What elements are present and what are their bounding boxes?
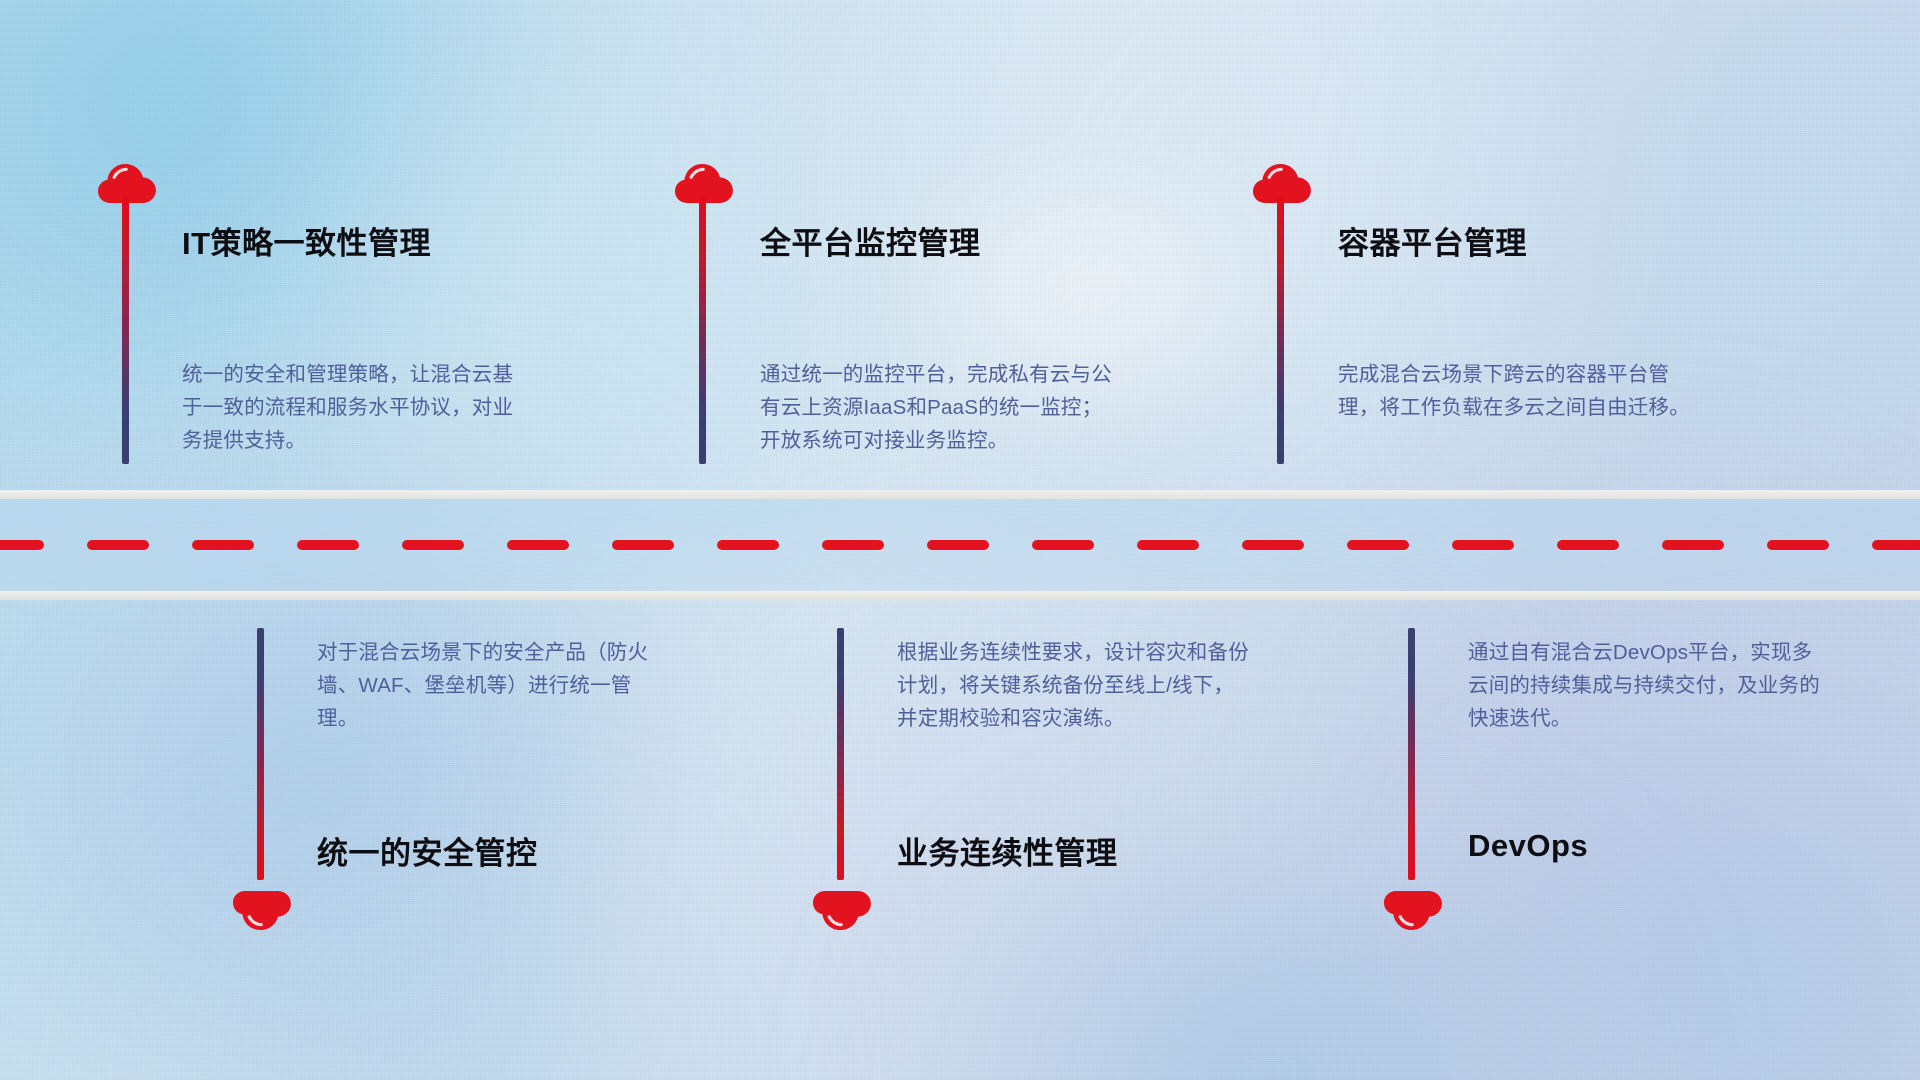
connector-stem [122,196,129,464]
item-description: 对于混合云场景下的安全产品（防火墙、WAF、堡垒机等）进行统一管理。 [317,636,657,736]
item-heading: 业务连续性管理 [897,828,1118,873]
item-heading: DevOps [1468,828,1588,864]
road-dash-segment [192,540,254,550]
cloud-icon [1382,890,1444,934]
road-dash-segment [822,540,884,550]
road-dash-segment [1452,540,1514,550]
road-dash-segment [612,540,674,550]
road-dash-segment [717,540,779,550]
road-dash-segment [1347,540,1409,550]
item-heading: 全平台监控管理 [760,218,981,263]
connector-stem [1408,628,1415,880]
road-dash-segment [402,540,464,550]
road-dash-segment [87,540,149,550]
road-dash-segment [1137,540,1199,550]
item-description: 根据业务连续性要求，设计容灾和备份计划，将关键系统备份至线上/线下，并定期校验和… [897,636,1252,736]
road-dash-segment [1872,540,1920,550]
item-heading: IT策略一致性管理 [182,218,431,263]
road-dash-segment [1557,540,1619,550]
item-description: 通过统一的监控平台，完成私有云与公有云上资源IaaS和PaaS的统一监控；开放系… [760,358,1115,458]
road-dash-segment [507,540,569,550]
road-edge-bottom [0,591,1920,600]
cloud-icon [231,890,293,934]
item-description: 统一的安全和管理策略，让混合云基于一致的流程和服务水平协议，对业务提供支持。 [182,358,522,458]
road-edge-top [0,490,1920,499]
road-divider [0,490,1920,600]
road-dash-segment [927,540,989,550]
road-dash-segment [0,540,44,550]
connector-stem [1277,196,1284,464]
road-dash-segment [1662,540,1724,550]
road-dash-segment [297,540,359,550]
item-heading: 统一的安全管控 [317,828,538,873]
road-dash-segment [1242,540,1304,550]
item-description: 通过自有混合云DevOps平台，实现多云间的持续集成与持续交付，及业务的快速迭代… [1468,636,1823,736]
road-center-dashes [0,540,1920,550]
road-dash-segment [1767,540,1829,550]
connector-stem [837,628,844,880]
item-description: 完成混合云场景下跨云的容器平台管理，将工作负载在多云之间自由迁移。 [1338,358,1693,424]
connector-stem [257,628,264,880]
cloud-icon [811,890,873,934]
road-dash-segment [1032,540,1094,550]
item-heading: 容器平台管理 [1338,218,1527,263]
connector-stem [699,196,706,464]
